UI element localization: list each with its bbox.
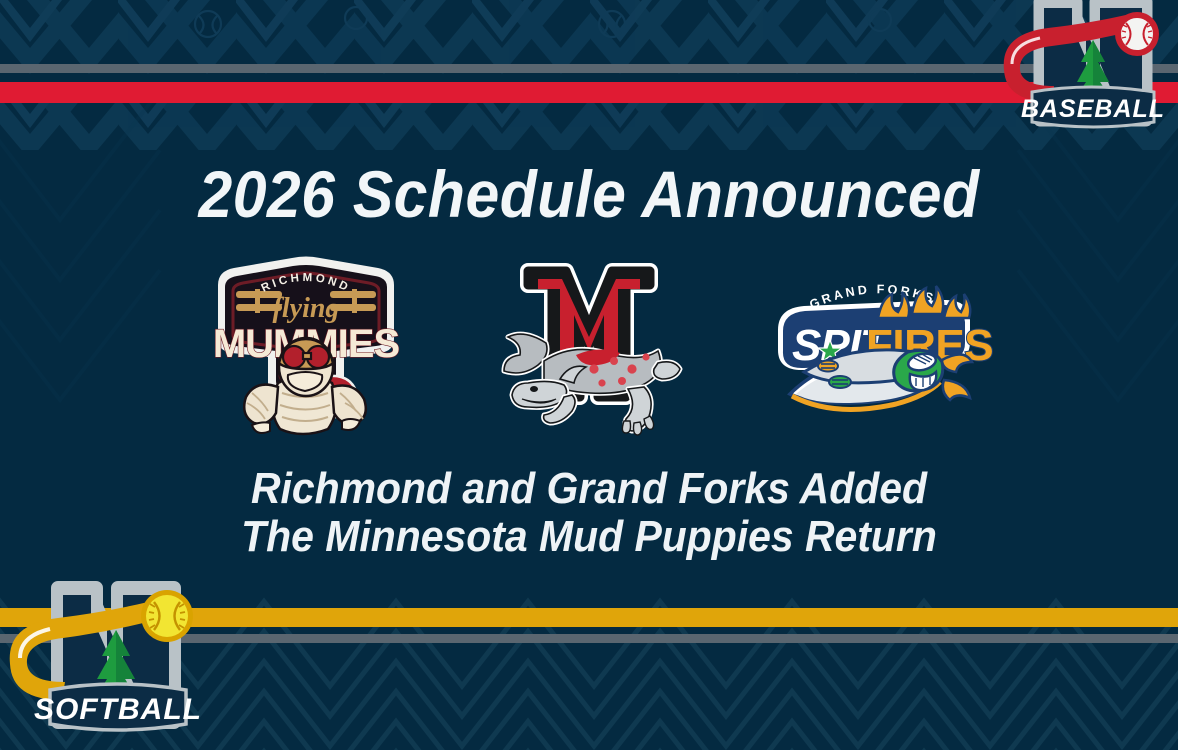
minnesota-mud-puppies-mark bbox=[490, 265, 688, 433]
softball-ball-icon bbox=[141, 590, 193, 642]
baseball-wordmark-text: BASEBALL bbox=[1021, 95, 1165, 123]
softball-wordmark-text: SOFTBALL bbox=[34, 693, 202, 726]
team-logo-row: RICHMOND flying MUMMIES bbox=[0, 246, 1178, 451]
team-logo-richmond-flying-mummies: RICHMOND flying MUMMIES bbox=[200, 251, 412, 447]
league-logo-baseball: BASEBALL bbox=[1010, 0, 1176, 142]
page-title: 2026 Schedule Announced bbox=[47, 156, 1131, 232]
mummies-script-text: flying bbox=[273, 293, 340, 324]
mudpuppy-salamander-icon bbox=[504, 334, 680, 435]
top-gray-stripe bbox=[0, 64, 1178, 73]
league-logo-softball: SOFTBALL bbox=[24, 572, 210, 750]
baseball-ball-icon bbox=[1115, 12, 1159, 56]
subtitle-line-2: The Minnesota Mud Puppies Return bbox=[41, 512, 1137, 562]
team-logo-grand-forks-spitfires: GRAND FORKS SPIT FIRES bbox=[766, 268, 978, 430]
subtitle-line-1: Richmond and Grand Forks Added bbox=[41, 464, 1137, 514]
grand-forks-spitfires-mark: GRAND FORKS SPIT FIRES bbox=[766, 268, 978, 430]
team-logo-minnesota-mud-puppies bbox=[490, 265, 688, 433]
top-red-stripe bbox=[0, 82, 1178, 103]
poster-canvas: 2026 Schedule Announced bbox=[0, 0, 1178, 750]
richmond-flying-mummies-mark: RICHMOND flying MUMMIES bbox=[200, 251, 412, 447]
